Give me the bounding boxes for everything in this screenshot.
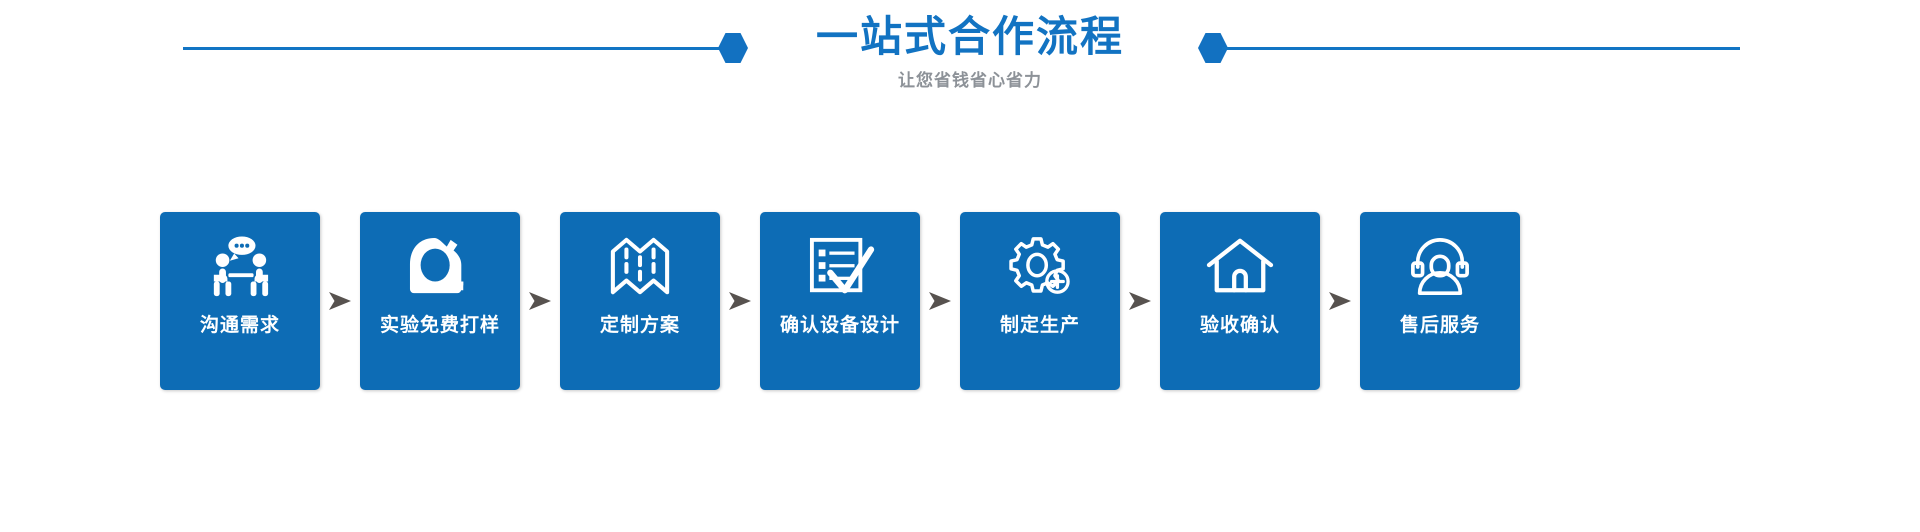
process-step-card-6[interactable]: 验收确认 <box>1160 212 1320 390</box>
headset-support-icon <box>1405 236 1475 298</box>
process-flow-page: 一站式合作流程 让您省钱省心省力 <box>0 0 1920 532</box>
house-icon <box>1205 236 1275 298</box>
arrow-right-icon <box>520 212 560 390</box>
page-subtitle: 让您省钱省心省力 <box>735 70 1205 92</box>
section-header: 一站式合作流程 让您省钱省心省力 <box>0 0 1920 130</box>
header-rule-right <box>1222 47 1740 50</box>
process-step-label: 售后服务 <box>1400 314 1480 338</box>
meeting-discussion-icon <box>205 236 275 298</box>
folded-map-icon <box>605 236 675 298</box>
header-title-block: 一站式合作流程 让您省钱省心省力 <box>735 12 1205 92</box>
process-step-list: 沟通需求 实验免费打样 <box>160 212 1760 390</box>
gear-plus-icon <box>1005 236 1075 298</box>
header-rule-left <box>183 47 735 50</box>
process-step-label: 制定生产 <box>1000 314 1080 338</box>
process-step-card-3[interactable]: 定制方案 <box>560 212 720 390</box>
process-step-label: 实验免费打样 <box>380 314 500 338</box>
page-title: 一站式合作流程 <box>735 12 1205 62</box>
measuring-tape-icon <box>405 236 475 298</box>
arrow-right-icon <box>1320 212 1360 390</box>
process-step-card-2[interactable]: 实验免费打样 <box>360 212 520 390</box>
process-step-card-4[interactable]: 确认设备设计 <box>760 212 920 390</box>
process-step-card-1[interactable]: 沟通需求 <box>160 212 320 390</box>
arrow-right-icon <box>720 212 760 390</box>
process-step-label: 沟通需求 <box>200 314 280 338</box>
process-step-label: 定制方案 <box>600 314 680 338</box>
process-step-label: 确认设备设计 <box>780 314 900 338</box>
arrow-right-icon <box>320 212 360 390</box>
process-step-card-7[interactable]: 售后服务 <box>1360 212 1520 390</box>
arrow-right-icon <box>920 212 960 390</box>
checklist-approved-icon <box>805 236 875 298</box>
arrow-right-icon <box>1120 212 1160 390</box>
process-step-label: 验收确认 <box>1200 314 1280 338</box>
process-step-card-5[interactable]: 制定生产 <box>960 212 1120 390</box>
